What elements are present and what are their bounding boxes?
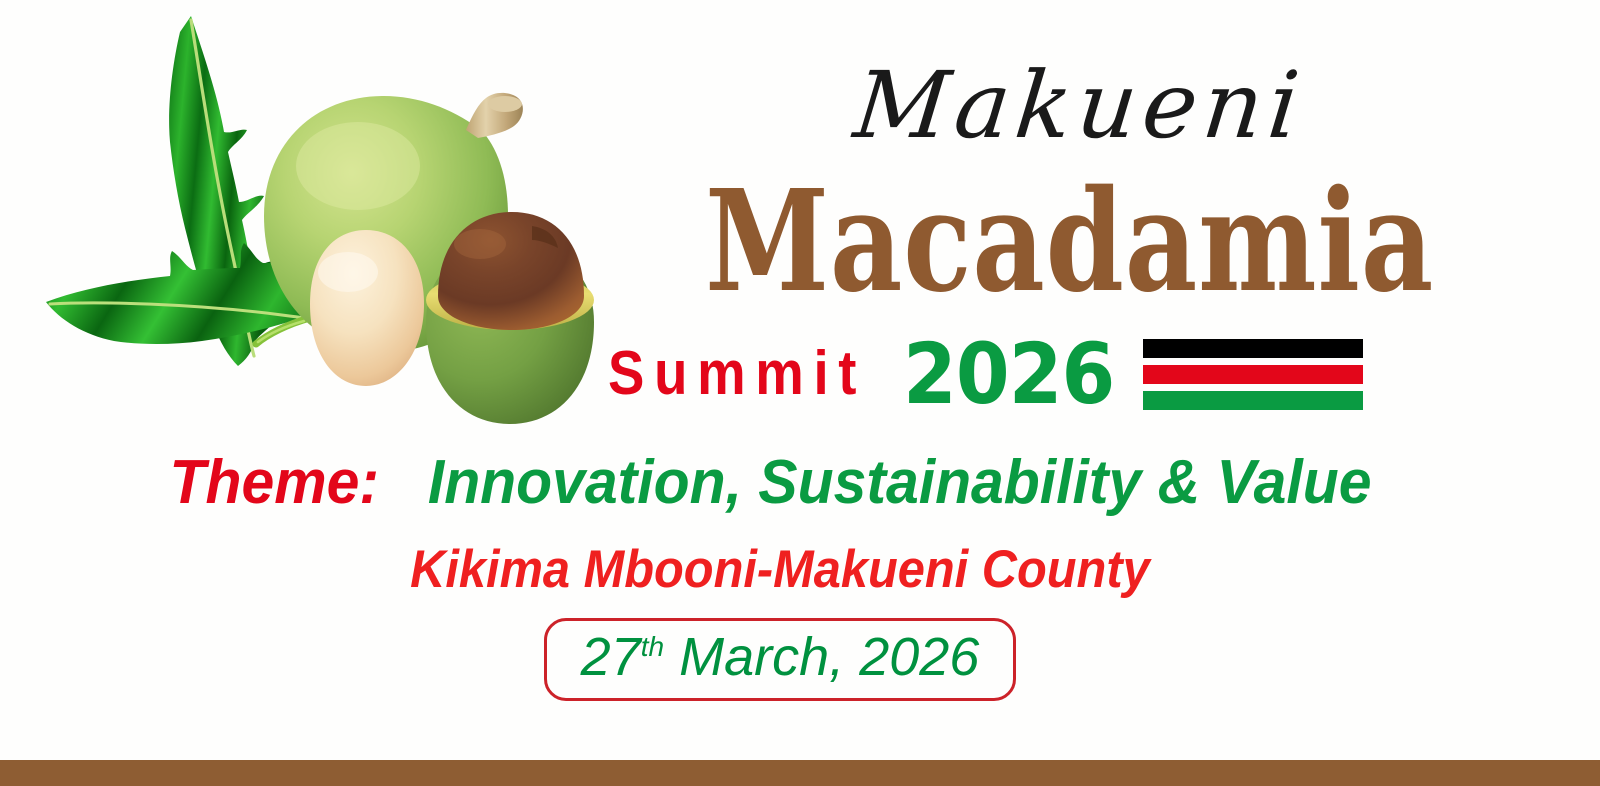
macadamia-illustration [28, 4, 628, 454]
venue-line: Kikima Mbooni-Makueni County [0, 543, 1560, 596]
poster-canvas: Makueni Macadamia Summit 2026 Theme:Inno… [0, 0, 1600, 786]
flag-stripe-black [1143, 339, 1363, 358]
footer-bar [0, 760, 1600, 786]
date-text: 27th March, 2026 [581, 627, 980, 687]
logo-wordmark: Makueni Macadamia Summit 2026 [600, 60, 1560, 440]
flag-stripe-green [1143, 391, 1363, 410]
summit-word: Summit [608, 343, 866, 405]
date-wrapper: 27th March, 2026 [0, 618, 1560, 701]
script-name-makueni: Makueni [851, 60, 1310, 152]
date-ordinal: th [641, 631, 664, 662]
summit-year-row: Summit 2026 [608, 332, 1548, 416]
theme-text: Innovation, Sustainability & Value [427, 452, 1371, 514]
theme-line: Theme:Innovation, Sustainability & Value [0, 452, 1560, 514]
summit-year: 2026 [903, 332, 1114, 416]
kernel [310, 230, 424, 386]
date-day: 27 [581, 627, 641, 687]
theme-label: Theme: [170, 452, 379, 514]
main-name-line: Macadamia [600, 172, 1540, 312]
date-badge: 27th March, 2026 [544, 618, 1017, 701]
fruit-stem [466, 93, 523, 138]
date-month-year: March, 2026 [664, 627, 979, 687]
flag-stripe-red [1143, 365, 1363, 384]
kenya-flag-icon [1143, 339, 1363, 410]
script-name-line: Makueni [620, 60, 1540, 152]
main-name-macadamia: Macadamia [705, 172, 1434, 312]
venue-text: Kikima Mbooni-Makueni County [410, 543, 1150, 596]
